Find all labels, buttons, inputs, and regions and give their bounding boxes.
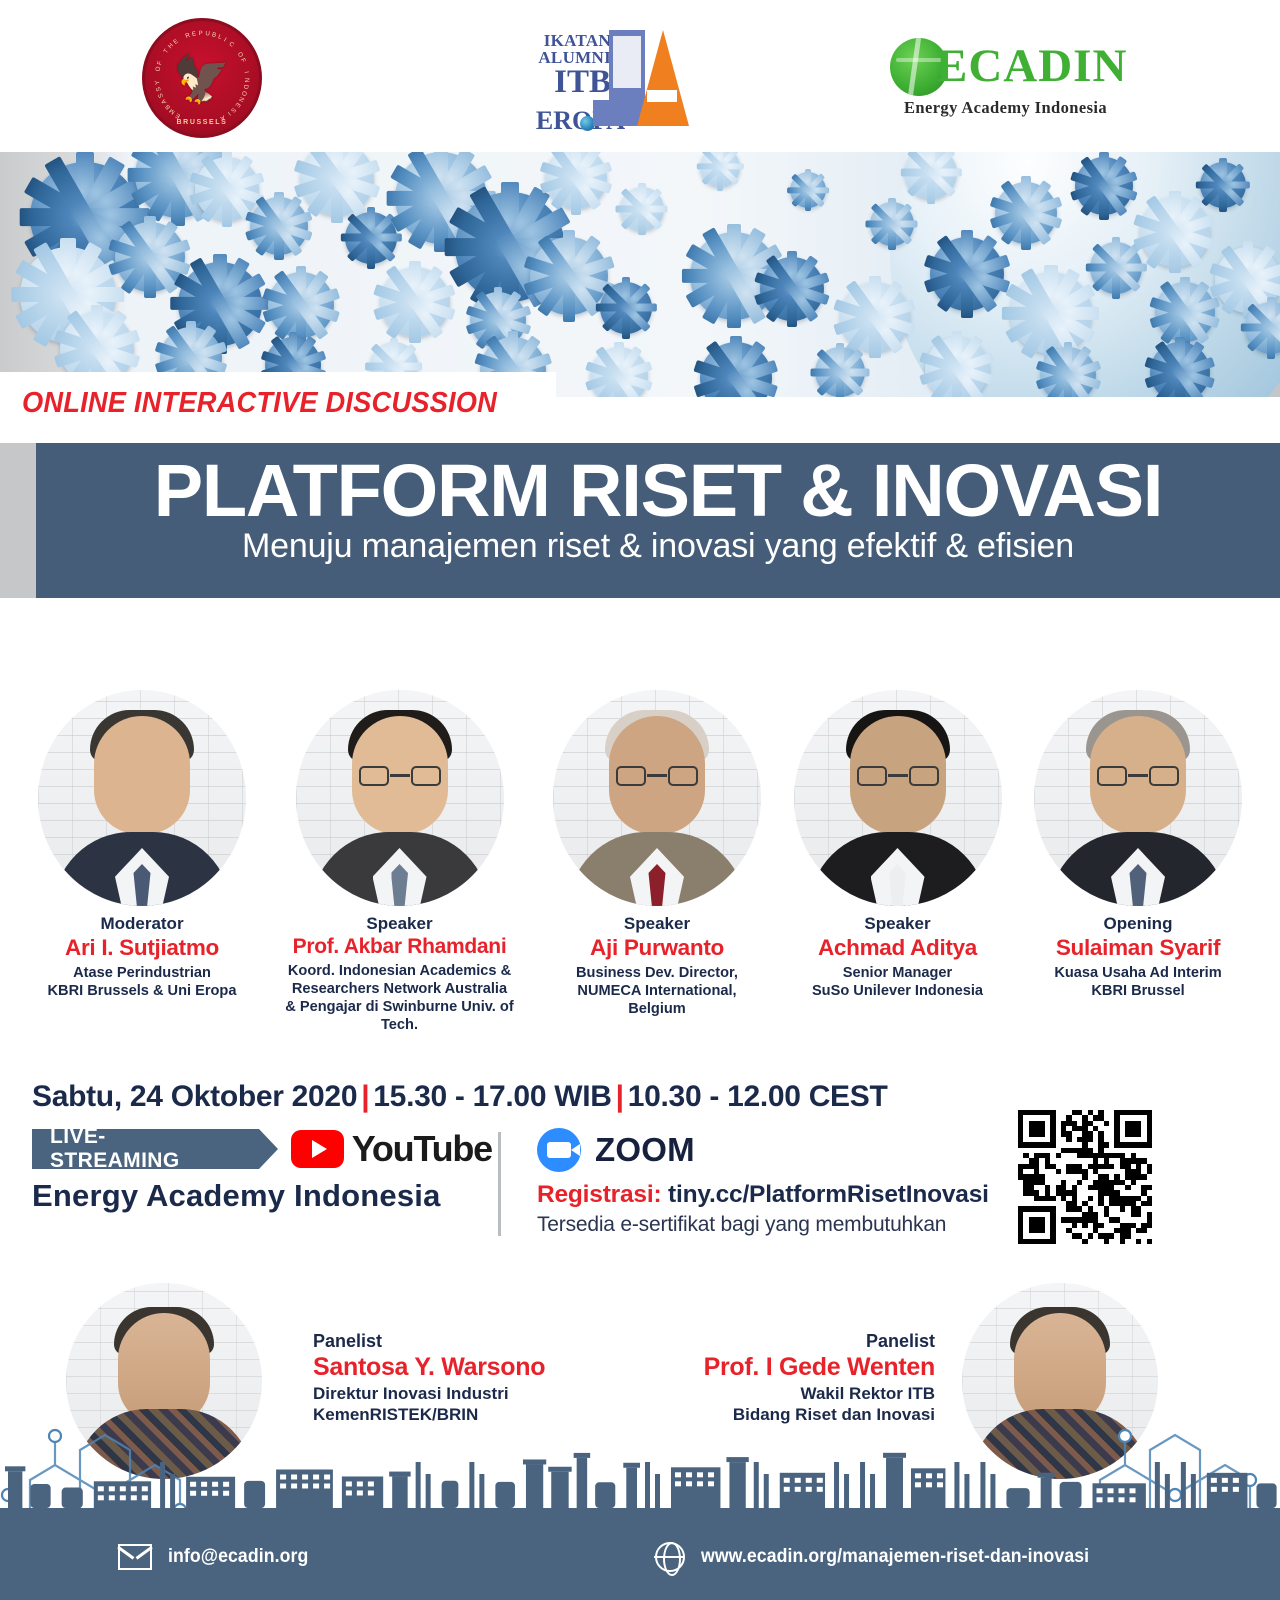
gear-icon (345, 212, 397, 264)
youtube-channel-name: Energy Academy Indonesia (32, 1178, 492, 1214)
gear-icon (1075, 157, 1133, 215)
zoom-wordmark: ZOOM (595, 1131, 695, 1169)
speaker-affiliation-3: Senior ManagerSuSo Unilever Indonesia (784, 964, 1012, 1000)
footer-website-text: www.ecadin.org/manajemen-riset-dan-inova… (701, 1546, 1089, 1568)
kicker-band: ONLINE INTERACTIVE DISCUSSION (0, 372, 556, 434)
gear-icon (250, 197, 308, 255)
gear-icon (840, 282, 910, 352)
certificate-note: Tersedia e-sertifikat bagi yang membutuh… (537, 1213, 1007, 1237)
speaker-affiliation-0: Atase PerindustrianKBRI Brussels & Uni E… (28, 964, 256, 1000)
panelist-name-1: Prof. I Gede Wenten (704, 1353, 935, 1382)
gear-icon (620, 187, 664, 231)
gear-icon (1090, 242, 1142, 294)
speaker-affiliation-line: Koord. Indonesian Academics & (269, 962, 531, 980)
speaker-card-3: Speaker Achmad Aditya Senior ManagerSuSo… (784, 690, 1012, 1035)
speaker-name-4: Sulaiman Syarif (1024, 935, 1252, 962)
speaker-affiliation-1: Koord. Indonesian Academics &Researchers… (269, 962, 531, 1034)
speaker-photo-2 (553, 690, 761, 906)
speaker-card-0: Moderator Ari I. Sutjiatmo Atase Perindu… (28, 690, 256, 1035)
live-streaming-block: LIVE-STREAMING YouTube Energy Academy In… (32, 1128, 492, 1214)
schedule-line: Sabtu, 24 Oktober 2020|15.30 - 17.00 WIB… (32, 1080, 888, 1114)
speaker-card-2: Speaker Aji Purwanto Business Dev. Direc… (543, 690, 771, 1035)
globe-icon (655, 1542, 685, 1572)
speaker-affiliation-line: Atase Perindustrian (28, 964, 256, 982)
vertical-divider (498, 1132, 501, 1236)
gear-icon (1245, 302, 1280, 354)
zoom-row: ZOOM (537, 1128, 1007, 1172)
speakers-row: Moderator Ari I. Sutjiatmo Atase Perindu… (0, 690, 1280, 1035)
gear-icon (590, 347, 648, 397)
zoom-block: ZOOM Registrasi: tiny.cc/PlatformRisetIn… (537, 1128, 1007, 1237)
gear-icon (300, 152, 374, 216)
speaker-name-2: Aji Purwanto (543, 935, 771, 962)
gear-icon (1150, 342, 1210, 397)
schedule-time-wib: 15.30 - 17.00 WIB (373, 1080, 611, 1113)
ecadin-logo: ECADIN Energy Academy Indonesia (890, 38, 1160, 124)
qr-code-registration[interactable] (1018, 1110, 1152, 1244)
panelist-affiliation-1: Wakil Rektor ITB Bidang Riset dan Inovas… (704, 1384, 935, 1425)
speaker-role-1: Speaker (269, 914, 531, 934)
speaker-affiliation-line: SuSo Unilever Indonesia (784, 982, 1012, 1000)
panelist-role-0: Panelist (313, 1331, 545, 1352)
speaker-affiliation-line: Researchers Network Australia (269, 980, 531, 998)
iaitb-ia-monogram-icon (607, 28, 693, 128)
speaker-photo-3 (794, 690, 1002, 906)
panelist-affiliation-0: Direktur Inovasi Industri KemenRISTEK/BR… (313, 1384, 545, 1425)
speaker-role-3: Speaker (784, 914, 1012, 934)
speaker-affiliation-line: NUMECA International, (543, 982, 771, 1000)
iaitb-line-itb: ITB (515, 67, 611, 99)
registration-label: Registrasi: (537, 1181, 661, 1208)
gear-icon (1010, 272, 1092, 354)
title-band: PLATFORM RISET & INOVASI Menuju manajeme… (36, 443, 1280, 598)
eyeglasses-icon (359, 766, 441, 786)
kicker-text: ONLINE INTERACTIVE DISCUSSION (22, 387, 497, 420)
gear-icon (790, 172, 826, 208)
gear-icon (995, 182, 1057, 244)
logo-bar: EMBASSY OF THE REPUBLIC OF INDONESIA 🦅 B… (0, 0, 1280, 152)
speaker-affiliation-line: KBRI Brussels & Uni Eropa (28, 982, 256, 1000)
gear-icon (268, 272, 334, 338)
youtube-wordmark: YouTube (352, 1128, 492, 1170)
speaker-name-1: Prof. Akbar Rhamdani (269, 935, 531, 960)
panelist-name-0: Santosa Y. Warsono (313, 1353, 545, 1382)
gear-icon (545, 152, 607, 209)
eyeglasses-icon (1097, 766, 1179, 786)
speaker-photo-0 (38, 690, 246, 906)
ecadin-tagline: Energy Academy Indonesia (904, 98, 1107, 118)
gear-icon (700, 342, 772, 397)
speaker-affiliation-4: Kuasa Usaha Ad InterimKBRI Brussel (1024, 964, 1252, 1000)
schedule-date: Sabtu, 24 Oktober 2020 (32, 1080, 357, 1113)
speaker-photo-4 (1034, 690, 1242, 906)
speaker-role-0: Moderator (28, 914, 256, 934)
eyeglasses-icon (616, 766, 698, 786)
schedule-separator-2: | (612, 1080, 628, 1113)
garuda-emblem-icon: 🦅 (173, 56, 230, 102)
industrial-skyline-decoration (0, 1450, 1280, 1508)
footer-bar: info@ecadin.org www.ecadin.org/manajemen… (0, 1508, 1280, 1600)
speaker-affiliation-line: Business Dev. Director, (543, 964, 771, 982)
speaker-role-4: Opening (1024, 914, 1252, 934)
panelist-info-0: Panelist Santosa Y. Warsono Direktur Ino… (313, 1331, 545, 1425)
gear-icon (815, 347, 865, 397)
speaker-card-4: Opening Sulaiman Syarif Kuasa Usaha Ad I… (1024, 690, 1252, 1035)
speaker-name-0: Ari I. Sutjiatmo (28, 935, 256, 962)
panelist-affiliation-line: KemenRISTEK/BRIN (313, 1405, 545, 1426)
speaker-name-3: Achmad Aditya (784, 935, 1012, 962)
gear-icon (760, 257, 824, 321)
gear-icon (870, 202, 914, 246)
registration-url[interactable]: tiny.cc/PlatformRisetInovasi (668, 1181, 989, 1208)
zoom-camera-icon (537, 1128, 581, 1172)
ikatan-alumni-itb-eropa-logo: IKATAN ALUMNI ITB EROPA (505, 28, 695, 133)
panelist-info-1: Panelist Prof. I Gede Wenten Wakil Rekto… (704, 1331, 935, 1425)
gear-icon (1140, 197, 1210, 267)
gear-icon (380, 267, 450, 337)
schedule-separator-1: | (357, 1080, 373, 1113)
gear-icon (905, 152, 957, 199)
speaker-role-2: Speaker (543, 914, 771, 934)
speaker-card-1: Speaker Prof. Akbar Rhamdani Koord. Indo… (269, 690, 531, 1035)
event-poster: EMBASSY OF THE REPUBLIC OF INDONESIA 🦅 B… (0, 0, 1280, 1600)
gear-icon (600, 282, 652, 334)
envelope-icon (118, 1544, 152, 1570)
page-subtitle: Menuju manajemen riset & inovasi yang ef… (36, 528, 1280, 565)
schedule-time-cest: 10.30 - 12.00 CEST (628, 1080, 888, 1113)
gear-icon (1200, 162, 1246, 208)
speaker-affiliation-line: Kuasa Usaha Ad Interim (1024, 964, 1252, 982)
speaker-affiliation-2: Business Dev. Director,NUMECA Internatio… (543, 964, 771, 1018)
embassy-city-label: BRUSSELS (145, 119, 259, 126)
ecadin-wordmark: ECADIN (936, 39, 1127, 93)
panelist-affiliation-line: Wakil Rektor ITB (704, 1384, 935, 1405)
gear-icon (700, 152, 740, 187)
gear-icon (925, 337, 989, 397)
panelist-affiliation-line: Bidang Riset dan Inovasi (704, 1405, 935, 1426)
live-streaming-row: LIVE-STREAMING YouTube (32, 1128, 492, 1170)
youtube-play-icon[interactable] (291, 1130, 344, 1168)
footer-email[interactable]: info@ecadin.org (118, 1544, 319, 1570)
iaitb-wordmark: IKATAN ALUMNI ITB (515, 32, 611, 98)
speaker-affiliation-line: & Pengajar di Swinburne Univ. of Tech. (269, 998, 531, 1034)
footer-email-text: info@ecadin.org (168, 1546, 308, 1568)
page-title: PLATFORM RISET & INOVASI (36, 455, 1280, 526)
eyeglasses-icon (857, 766, 939, 786)
live-streaming-badge: LIVE-STREAMING (32, 1129, 259, 1169)
footer-website[interactable]: www.ecadin.org/manajemen-riset-dan-inova… (655, 1542, 1118, 1572)
speaker-affiliation-line: Belgium (543, 1000, 771, 1018)
embassy-indonesia-brussels-logo: EMBASSY OF THE REPUBLIC OF INDONESIA 🦅 B… (142, 18, 262, 138)
iaitb-line-ikatan: IKATAN (515, 32, 611, 49)
gears-hero-image (0, 152, 1280, 397)
gear-icon (930, 237, 1004, 311)
gear-icon (1155, 282, 1215, 342)
registration-line[interactable]: Registrasi: tiny.cc/PlatformRisetInovasi (537, 1181, 1007, 1209)
speaker-affiliation-line: Senior Manager (784, 964, 1012, 982)
speaker-affiliation-line: KBRI Brussel (1024, 982, 1252, 1000)
speaker-photo-1 (296, 690, 504, 906)
panelist-role-1: Panelist (704, 1331, 935, 1352)
panelist-affiliation-line: Direktur Inovasi Industri (313, 1384, 545, 1405)
gear-icon (1040, 347, 1096, 397)
